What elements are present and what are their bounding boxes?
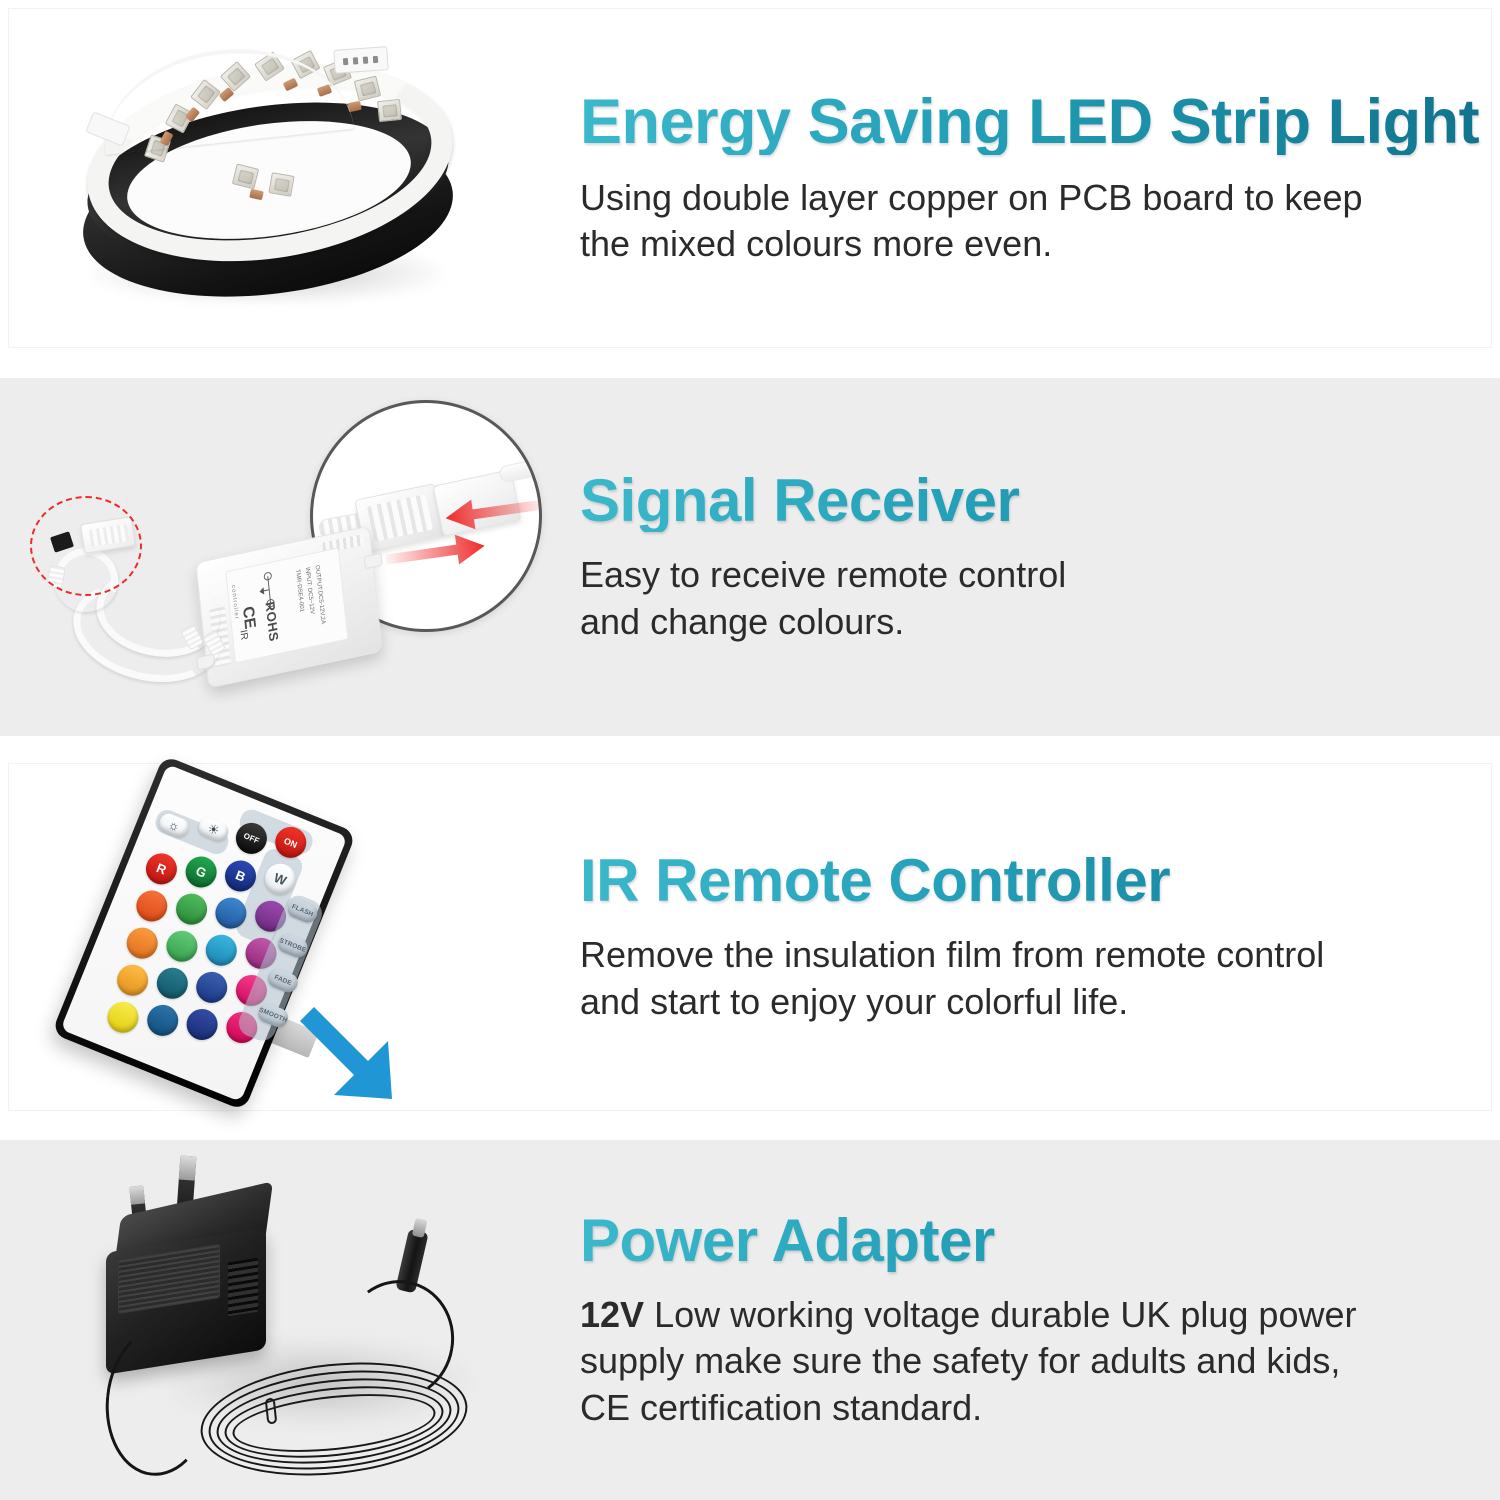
ir-remote-image: ☼ ☀ OFF ON R G B W — [0, 763, 580, 1111]
section-2-body-line-2: and change colours. — [580, 601, 904, 642]
color-button[interactable] — [201, 930, 241, 970]
section-3-copy: IR Remote Controller Remove the insulati… — [580, 849, 1500, 1024]
led-strip-reel-image — [0, 8, 580, 348]
section-3-body: Remove the insulation film from remote c… — [580, 932, 1482, 1024]
color-button[interactable] — [103, 997, 143, 1037]
section-1-heading: Energy Saving LED Strip Light — [580, 89, 1482, 155]
controller-output-text: OUTPUT:DC5-12V,2A — [314, 565, 326, 625]
led-chip — [268, 172, 294, 197]
section-4-heading: Power Adapter — [580, 1209, 1482, 1272]
red-dashed-highlight-circle — [30, 496, 142, 596]
section-1-body-line-1: Using double layer copper on PCB board t… — [580, 177, 1363, 218]
adapter-vents — [228, 1258, 258, 1317]
strip-4pin-connector — [333, 46, 389, 74]
section-4-body-line-3: CE certification standard. — [580, 1387, 982, 1428]
power-adapter-image — [0, 1140, 580, 1500]
rgb-controller-box: controller CE ROHS IR TMR-DSE4-001 INPUT… — [195, 525, 382, 688]
product-feature-infographic: Energy Saving LED Strip Light Using doub… — [0, 0, 1500, 1500]
color-button[interactable] — [152, 963, 192, 1003]
section-1-body: Using double layer copper on PCB board t… — [580, 175, 1482, 267]
section-1-copy: Energy Saving LED Strip Light Using doub… — [580, 89, 1500, 267]
color-button[interactable] — [171, 889, 211, 929]
section-signal-receiver: controller CE ROHS IR TMR-DSE4-001 INPUT… — [0, 378, 1500, 736]
section-3-body-line-1: Remove the insulation film from remote c… — [580, 934, 1324, 975]
controller-label-face: controller CE ROHS IR TMR-DSE4-001 INPUT… — [225, 547, 348, 663]
color-button[interactable] — [182, 1004, 222, 1044]
ce-mark: CE — [238, 605, 258, 631]
color-button[interactable] — [192, 967, 232, 1007]
magnified-cable-right — [498, 455, 542, 483]
led-chip — [377, 99, 402, 122]
section-4-body-line-2: supply make sure the safety for adults a… — [580, 1340, 1340, 1381]
section-ir-remote-controller: ☼ ☀ OFF ON R G B W — [0, 763, 1500, 1111]
color-button[interactable] — [122, 923, 162, 963]
section-3-heading: IR Remote Controller — [580, 849, 1482, 912]
color-button[interactable] — [112, 960, 152, 1000]
polarity-symbol-icon — [257, 569, 282, 610]
controller-image: controller CE ROHS IR TMR-DSE4-001 INPUT… — [0, 378, 580, 736]
section-4-body: 12V Low working voltage durable UK plug … — [580, 1292, 1482, 1430]
section-4-copy: Power Adapter 12V Low working voltage du… — [580, 1209, 1500, 1430]
section-energy-saving-led-strip-light: Energy Saving LED Strip Light Using doub… — [0, 8, 1500, 348]
color-button[interactable] — [143, 1000, 183, 1040]
section-3-body-line-2: and start to enjoy your colorful life. — [580, 981, 1128, 1022]
color-button[interactable] — [162, 926, 202, 966]
controller-model-text: TMR-DSE4-001 — [294, 569, 304, 613]
voltage-value: 12V — [580, 1294, 644, 1335]
green-button[interactable]: G — [181, 852, 221, 892]
red-button[interactable]: R — [141, 849, 181, 889]
blue-arrow-down-icon — [292, 1001, 412, 1111]
controller-input-text: INPUT: DC5~12V — [304, 567, 315, 615]
section-2-copy: Signal Receiver Easy to receive remote c… — [580, 469, 1500, 644]
section-2-body: Easy to receive remote control and chang… — [580, 552, 1482, 644]
section-power-adapter: Power Adapter 12V Low working voltage du… — [0, 1140, 1500, 1500]
section-4-body-line-1: Low working voltage durable UK plug powe… — [644, 1294, 1356, 1335]
section-2-heading: Signal Receiver — [580, 469, 1482, 532]
section-1-body-line-2: the mixed colours more even. — [580, 223, 1052, 264]
color-button[interactable] — [132, 886, 172, 926]
section-2-body-line-1: Easy to receive remote control — [580, 554, 1066, 595]
ir-mark: IR — [238, 629, 250, 641]
